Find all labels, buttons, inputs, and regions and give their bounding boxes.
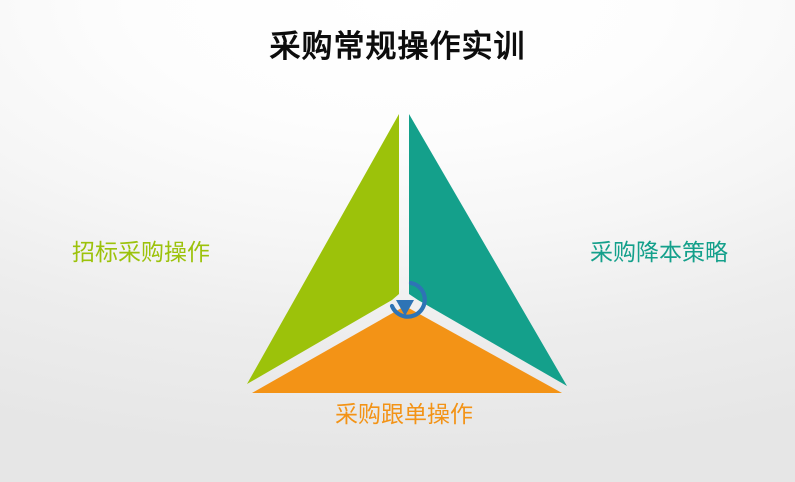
slide-canvas: 采购常规操作实训 招标采购操作 采购降本策略 采购跟单操作 bbox=[0, 0, 795, 482]
wedge-label-left: 招标采购操作 bbox=[72, 238, 210, 268]
wedge-label-right: 采购降本策略 bbox=[590, 238, 728, 268]
wedge-label-bottom: 采购跟单操作 bbox=[335, 400, 473, 430]
